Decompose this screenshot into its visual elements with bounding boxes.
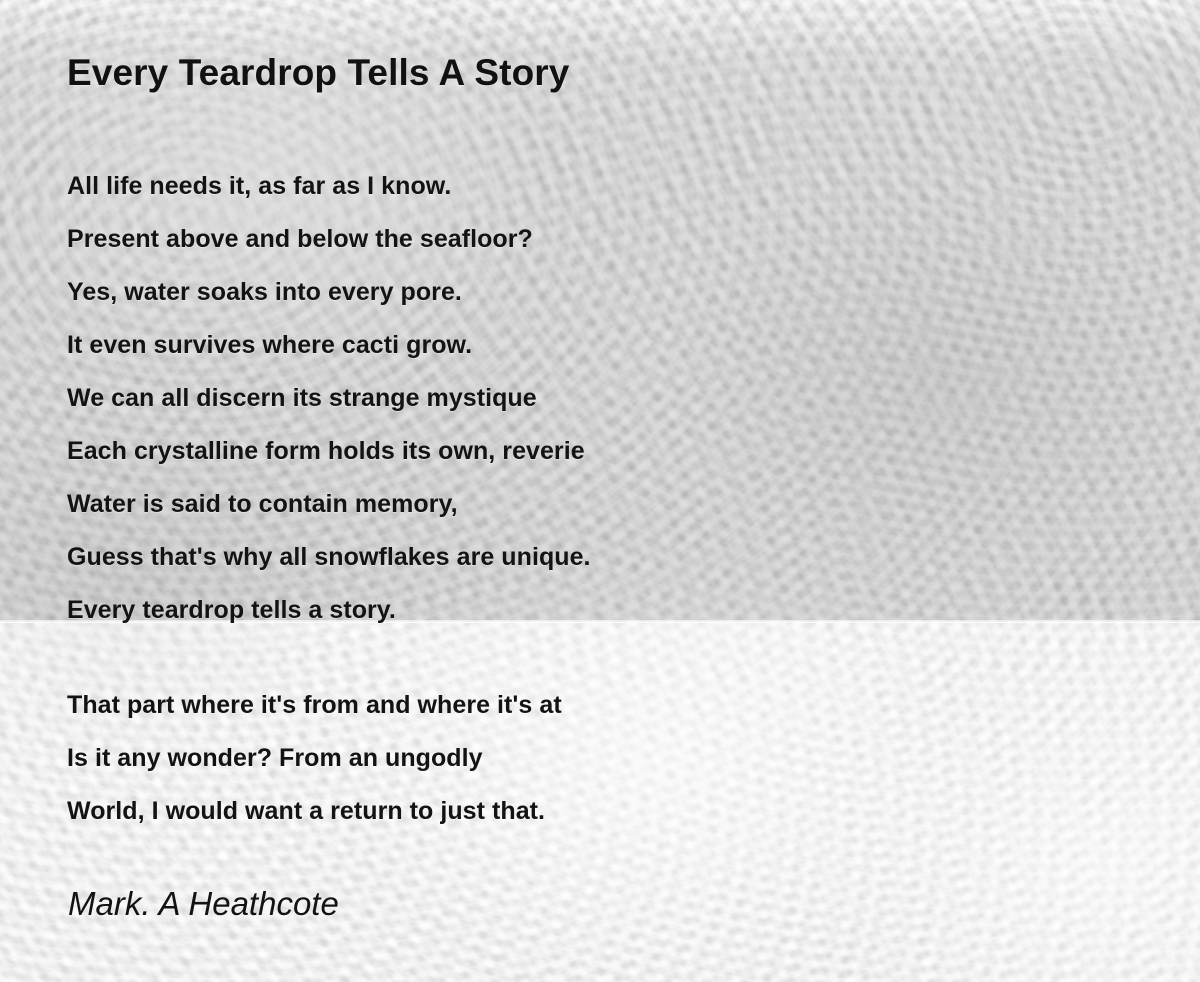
poem-line: Water is said to contain memory, xyxy=(67,478,591,531)
poem-line: Guess that's why all snowflakes are uniq… xyxy=(67,531,591,584)
poem-content: Every Teardrop Tells A Story All life ne… xyxy=(0,0,1200,982)
poem-line: It even survives where cacti grow. xyxy=(67,319,591,372)
poem-line: World, I would want a return to just tha… xyxy=(67,785,562,838)
poem-line: Is it any wonder? From an ungodly xyxy=(67,732,562,785)
poem-line: Each crystalline form holds its own, rev… xyxy=(67,425,591,478)
poem-line: We can all discern its strange mystique xyxy=(67,372,591,425)
poem-line: All life needs it, as far as I know. xyxy=(67,160,591,213)
poem-stanza-2: That part where it's from and where it's… xyxy=(67,679,562,838)
author-signature: Mark. A Heathcote xyxy=(68,885,339,923)
page-title: Every Teardrop Tells A Story xyxy=(67,52,569,94)
poem-line: Present above and below the seafloor? xyxy=(67,213,591,266)
poem-image-card: Every Teardrop Tells A Story All life ne… xyxy=(0,0,1200,982)
poem-stanza-1: All life needs it, as far as I know. Pre… xyxy=(67,160,591,637)
poem-line: That part where it's from and where it's… xyxy=(67,679,562,732)
poem-line: Every teardrop tells a story. xyxy=(67,584,591,637)
poem-line: Yes, water soaks into every pore. xyxy=(67,266,591,319)
